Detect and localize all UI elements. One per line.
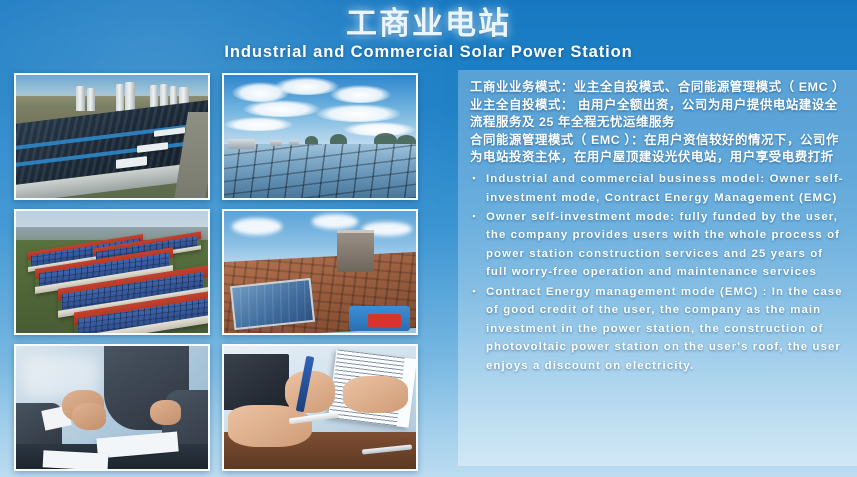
- bullet-marker-icon: •: [470, 170, 479, 207]
- panel-chinese-body: 工商业业务模式：业主全自投模式、合同能源管理模式（ EMC ） 业主全自投模式：…: [470, 79, 847, 167]
- photo-6-scene: [224, 346, 416, 469]
- photo-red-roof-factory-buildings-solar[interactable]: [14, 209, 210, 336]
- bullet-marker-icon: •: [470, 208, 479, 282]
- photo-business-handshake-meeting[interactable]: [14, 344, 210, 471]
- photo-2-scene: [224, 75, 416, 198]
- photo-rooftop-solar-panel-array-sky[interactable]: [222, 73, 418, 200]
- panel-english-bullets: • Industrial and commercial business mod…: [470, 170, 847, 375]
- photo-workers-installing-solar-panels-roof[interactable]: [222, 209, 418, 336]
- page-title-chinese: 工商业电站: [346, 8, 511, 40]
- photo-3-scene: [16, 211, 208, 334]
- bullet-marker-icon: •: [470, 283, 479, 375]
- description-panel: 工商业业务模式：业主全自投模式、合同能源管理模式（ EMC ） 业主全自投模式：…: [458, 70, 857, 466]
- page-title-english: Industrial and Commercial Solar Power St…: [224, 43, 632, 62]
- bullet-item: • Owner self-investment mode: fully fund…: [470, 208, 847, 282]
- photo-signing-contract-pen-document[interactable]: [222, 344, 418, 471]
- slide-header: 工商业电站 Industrial and Commercial Solar Po…: [0, 0, 857, 70]
- photo-5-scene: [16, 346, 208, 469]
- bullet-item: • Industrial and commercial business mod…: [470, 170, 847, 207]
- photo-4-scene: [224, 211, 416, 334]
- photo-aerial-industrial-plant-rooftop-solar[interactable]: [14, 73, 210, 200]
- photo-1-scene: [16, 75, 208, 198]
- bullet-item: • Contract Energy management mode (EMC) …: [470, 283, 847, 375]
- image-gallery-grid: [14, 73, 418, 471]
- bullet-text: Owner self-investment mode: fully funded…: [486, 208, 847, 282]
- bullet-text: Contract Energy management mode (EMC) : …: [486, 283, 847, 375]
- bullet-text: Industrial and commercial business model…: [486, 170, 847, 207]
